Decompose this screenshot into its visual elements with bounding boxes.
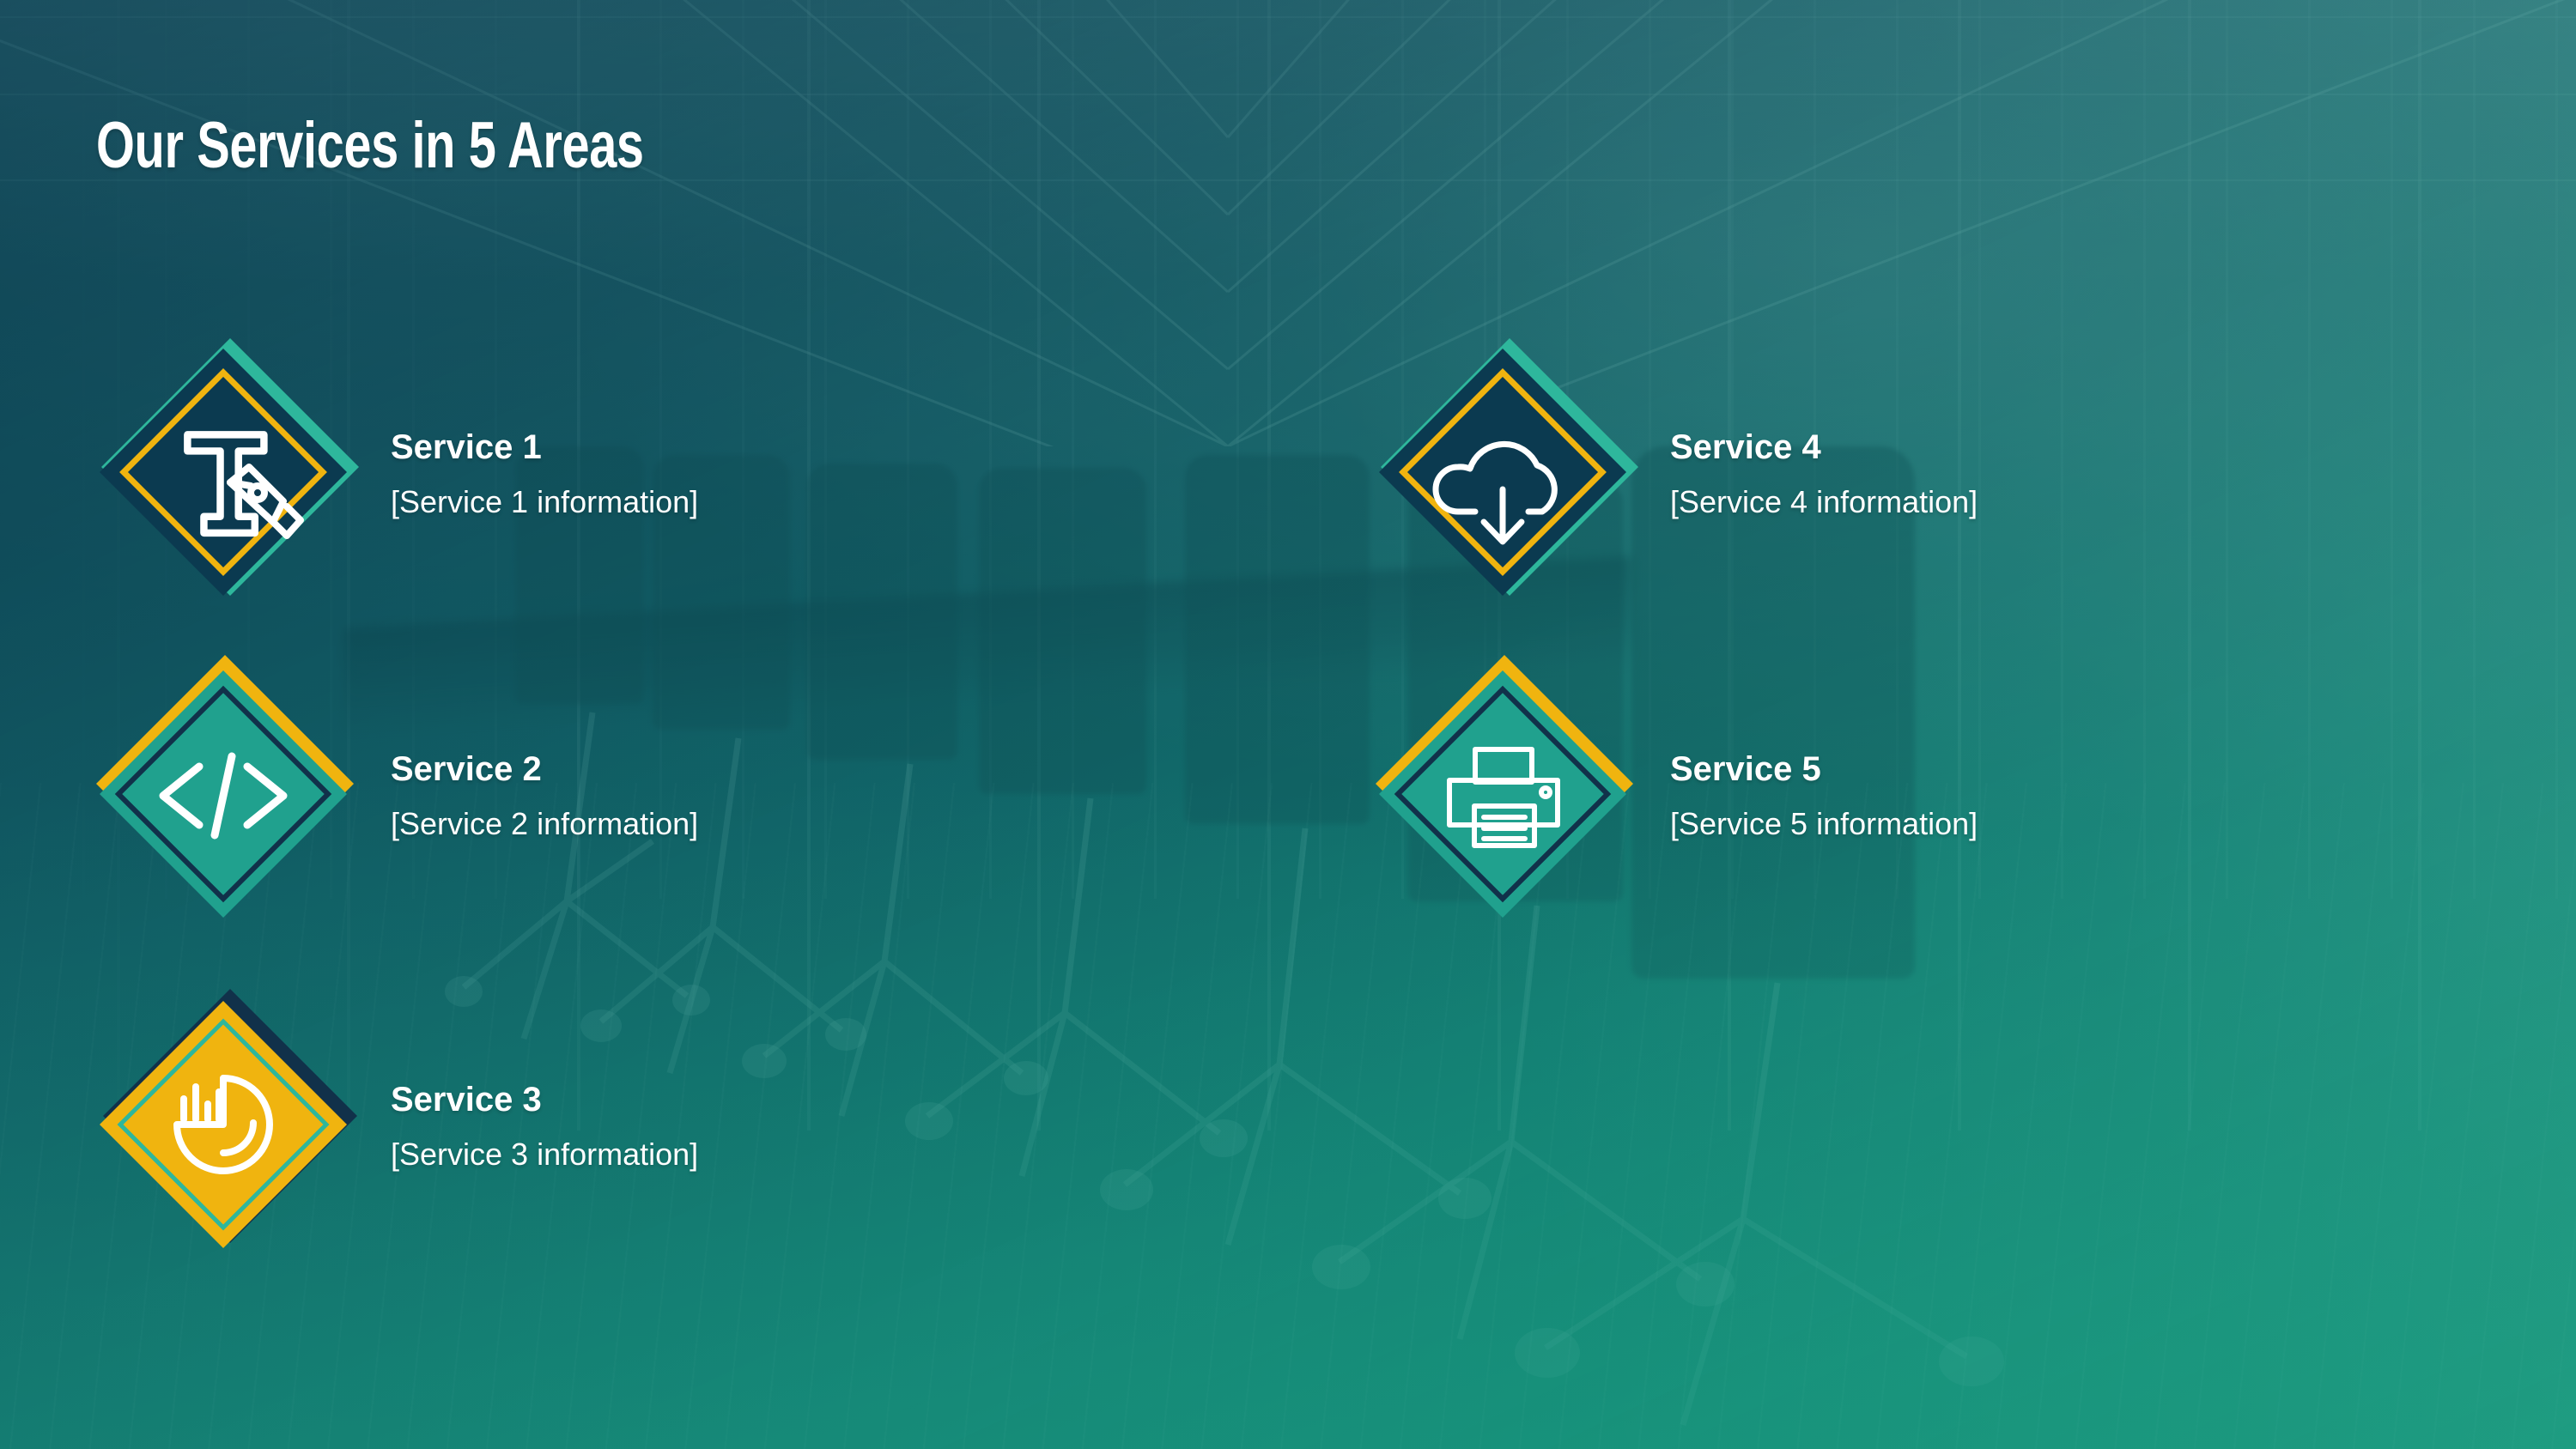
service-3-diamond <box>94 996 352 1253</box>
slide-canvas: Our Services in 5 Areas <box>0 0 2576 1449</box>
service-4-diamond <box>1374 343 1631 601</box>
service-4-title: Service 4 <box>1670 429 1978 465</box>
service-4-description: [Service 4 information] <box>1670 486 1978 518</box>
service-1-text: Service 1 [Service 1 information] <box>391 429 698 518</box>
service-2-text: Service 2 [Service 2 information] <box>391 751 698 840</box>
service-2-title: Service 2 <box>391 751 698 787</box>
service-5-description: [Service 5 information] <box>1670 808 1978 840</box>
service-3-text: Service 3 [Service 3 information] <box>391 1082 698 1171</box>
service-4-badge[interactable] <box>1374 343 1631 601</box>
service-1-badge[interactable] <box>94 343 352 601</box>
main-diamond <box>1379 349 1626 596</box>
service-1-title: Service 1 <box>391 429 698 465</box>
service-2-diamond <box>94 665 352 923</box>
service-1-diamond <box>94 343 352 601</box>
service-3-badge[interactable] <box>94 996 352 1253</box>
service-1-description: [Service 1 information] <box>391 486 698 518</box>
service-2-badge[interactable] <box>94 665 352 923</box>
service-5-badge[interactable] <box>1374 665 1631 923</box>
service-5-diamond <box>1374 665 1631 923</box>
service-2-description: [Service 2 information] <box>391 808 698 840</box>
service-3-description: [Service 3 information] <box>391 1138 698 1171</box>
service-5-text: Service 5 [Service 5 information] <box>1670 751 1978 840</box>
main-diamond <box>1379 670 1626 918</box>
background-tint-overlay <box>0 0 2576 1449</box>
service-5-title: Service 5 <box>1670 751 1978 787</box>
service-3-title: Service 3 <box>391 1082 698 1118</box>
page-title: Our Services in 5 Areas <box>96 113 644 179</box>
service-4-text: Service 4 [Service 4 information] <box>1670 429 1978 518</box>
